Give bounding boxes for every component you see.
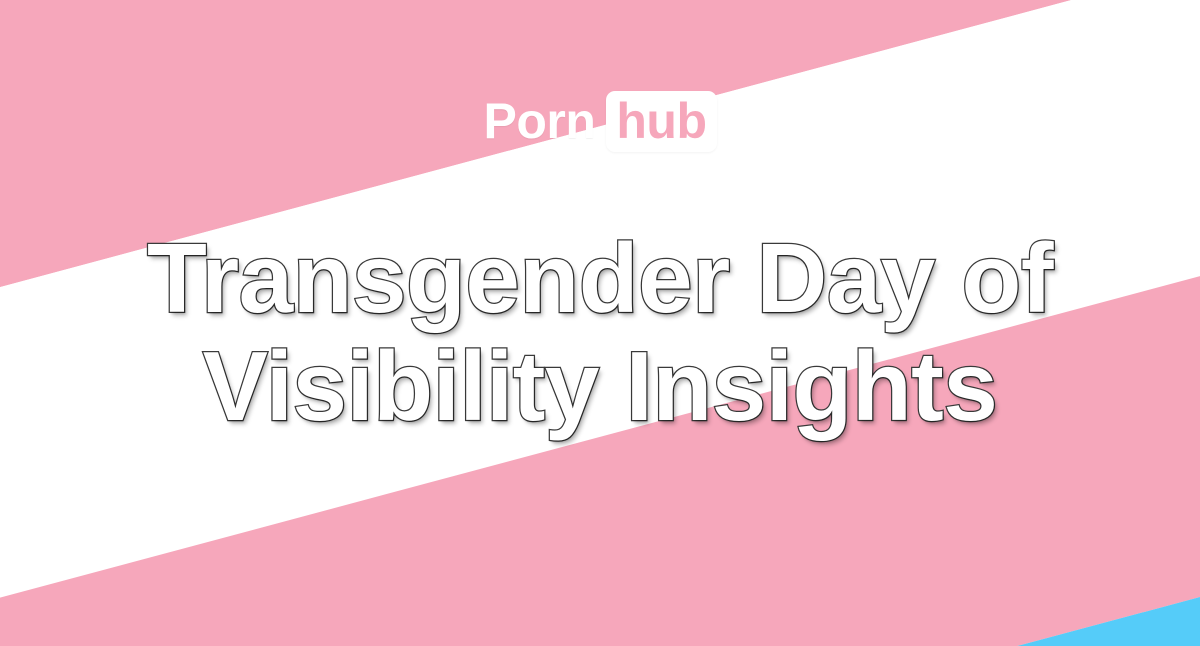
headline-line-2: Visibility Insights [0,330,1200,444]
headline-line-1: Transgender Day of [0,222,1200,336]
transgender-day-of-visibility-banner: Porn hub Transgender Day of Visibility I… [0,0,1200,646]
logo-hub-box: hub [606,91,716,152]
pornhub-logo[interactable]: Porn hub [0,90,1200,152]
logo-word-porn: Porn [483,96,606,146]
logo-word-hub: hub [616,96,706,146]
page-title: Transgender Day of Visibility Insights [0,222,1200,443]
